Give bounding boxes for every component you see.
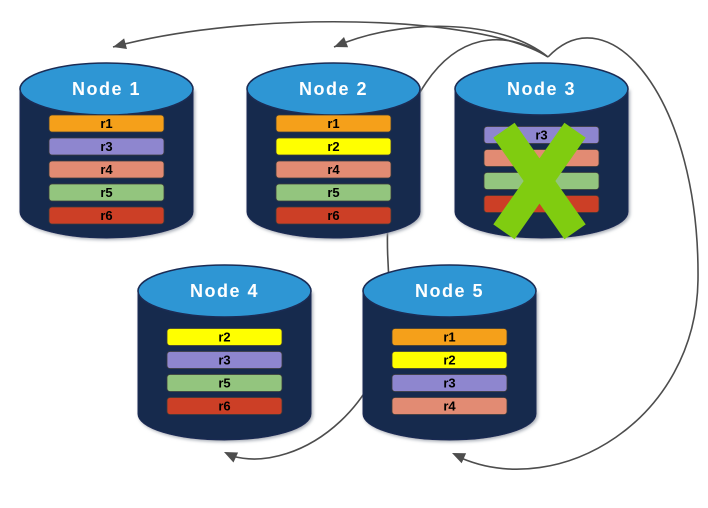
replica-bar-r2[interactable]: r2 — [392, 352, 507, 369]
arrow-head — [222, 447, 238, 462]
node-label: Node 4 — [190, 281, 259, 301]
replica-bar-label: r4 — [327, 162, 340, 177]
replica-bar-label: r4 — [100, 162, 113, 177]
arrow-head — [450, 448, 466, 463]
replica-bar-r1[interactable]: r1 — [276, 115, 391, 132]
replica-bar-r5[interactable]: r5 — [167, 375, 282, 392]
node-cylinder-node-5[interactable]: Node 5r1r2r3r4 — [363, 265, 536, 440]
replica-bar-label: r2 — [443, 352, 455, 367]
replica-bar-label: r6 — [100, 208, 112, 223]
replica-bar-label: r3 — [535, 127, 547, 142]
replica-bar-label: r1 — [327, 116, 339, 131]
replica-bar-label: r6 — [218, 398, 230, 413]
replica-bar-r6[interactable]: r6 — [276, 207, 391, 224]
diagram-canvas: Node 1r1r3r4r5r6Node 2r1r2r4r5r6Node 3r3… — [0, 0, 708, 508]
node-label: Node 5 — [415, 281, 484, 301]
replica-bar-r4[interactable]: r4 — [276, 161, 391, 178]
node-cylinder-node-3[interactable]: Node 3r3 — [455, 63, 628, 239]
replica-bar-r1[interactable]: r1 — [49, 115, 164, 132]
replica-bar-r6[interactable]: r6 — [49, 207, 164, 224]
replica-bar-r4[interactable]: r4 — [392, 398, 507, 415]
replica-bar-r1[interactable]: r1 — [392, 329, 507, 346]
edge-node3-to-node1 — [112, 22, 548, 57]
nodes-layer: Node 1r1r3r4r5r6Node 2r1r2r4r5r6Node 3r3… — [20, 63, 628, 440]
node-cylinder-node-2[interactable]: Node 2r1r2r4r5r6 — [247, 63, 420, 238]
replica-bar-r5[interactable]: r5 — [49, 184, 164, 201]
replication-diagram: Node 1r1r3r4r5r6Node 2r1r2r4r5r6Node 3r3… — [0, 0, 708, 508]
replica-bar-label: r4 — [443, 398, 456, 413]
replica-bar-label: r3 — [218, 352, 230, 367]
replica-bar-r3[interactable]: r3 — [49, 138, 164, 155]
node-cylinder-node-4[interactable]: Node 4r2r3r5r6 — [138, 265, 311, 440]
replica-bar-label: r5 — [100, 185, 112, 200]
edge-path — [113, 22, 548, 57]
replica-bar-label: r3 — [100, 139, 112, 154]
replica-bar-label: r5 — [327, 185, 339, 200]
arrow-head — [112, 38, 127, 52]
arrow-head — [332, 37, 348, 52]
replica-bar-r6[interactable]: r6 — [167, 398, 282, 415]
node-label: Node 3 — [507, 79, 576, 99]
replica-bar-r2[interactable]: r2 — [276, 138, 391, 155]
node-label: Node 1 — [72, 79, 141, 99]
replica-bar-r5[interactable]: r5 — [276, 184, 391, 201]
replica-bar-label: r3 — [443, 375, 455, 390]
replica-bar-label: r5 — [218, 375, 230, 390]
replica-bar-label: r2 — [218, 329, 230, 344]
replica-bar-r4[interactable]: r4 — [49, 161, 164, 178]
node-label: Node 2 — [299, 79, 368, 99]
replica-bar-label: r1 — [100, 116, 112, 131]
node-cylinder-node-1[interactable]: Node 1r1r3r4r5r6 — [20, 63, 193, 238]
replica-bar-label: r1 — [443, 329, 455, 344]
replica-bar-r2[interactable]: r2 — [167, 329, 282, 346]
replica-bar-r3[interactable]: r3 — [392, 375, 507, 392]
replica-bar-label: r6 — [327, 208, 339, 223]
replica-bar-r3[interactable]: r3 — [167, 352, 282, 369]
replica-bar-label: r2 — [327, 139, 339, 154]
